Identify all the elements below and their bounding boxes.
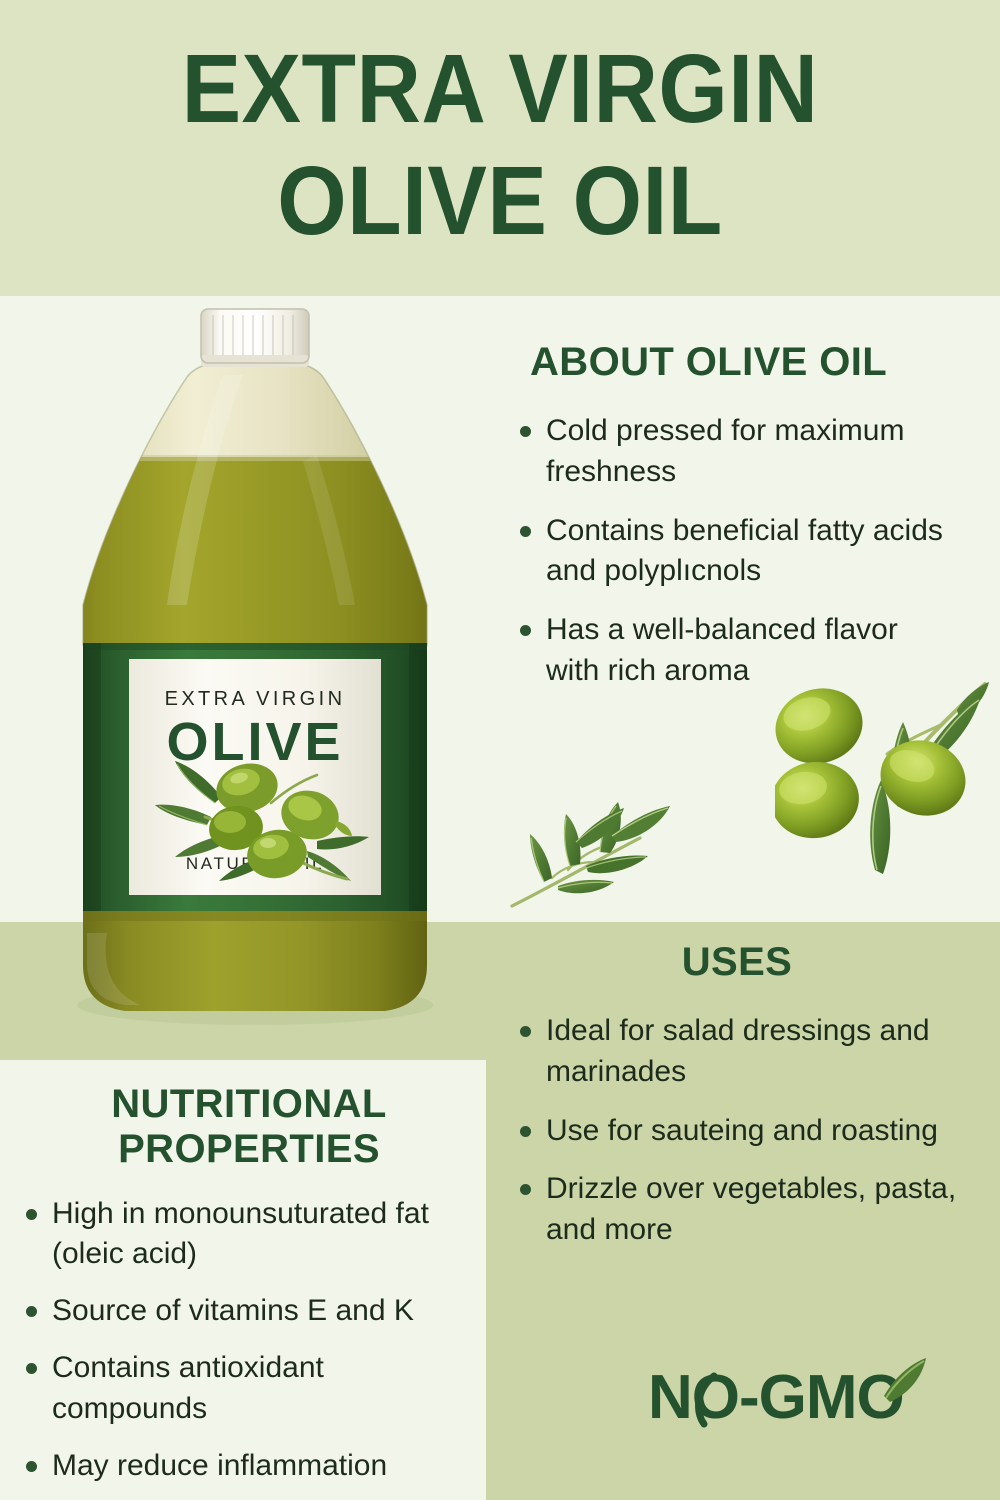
- bullet-icon: [520, 526, 531, 537]
- about-bullet-list: Cold pressed for maximum freshness Conta…: [512, 411, 952, 692]
- bullet-icon: [520, 1184, 531, 1195]
- page-title-line-1: EXTRA VIRGIN: [40, 40, 960, 137]
- nutrition-bullet-text: Contains antioxidant compounds: [52, 1351, 324, 1425]
- bullet-icon: [520, 1126, 531, 1137]
- list-item: Contains beneficial fatty acids and poly…: [512, 511, 952, 593]
- nutrition-bullet-list: High in monounsuturated fat (oleic acid)…: [18, 1194, 480, 1487]
- bottle-label-top-text: EXTRA VIRGIN: [165, 688, 346, 710]
- nutrition-heading: NUTRITIONAL PROPERTIES: [18, 1082, 480, 1172]
- about-heading: ABOUT OLIVE OIL: [530, 340, 952, 385]
- no-gmo-badge: NO-GMO: [648, 1352, 928, 1442]
- olive-leaf-sprig-icon: [508, 740, 728, 915]
- bullet-icon: [520, 426, 531, 437]
- about-section: ABOUT OLIVE OIL Cold pressed for maximum…: [512, 340, 952, 710]
- nutrition-bullet-text: May reduce inflammation: [52, 1449, 387, 1482]
- no-gmo-badge-svg: NO-GMO: [648, 1352, 928, 1442]
- uses-section: USES Ideal for salad dressings and marin…: [512, 940, 962, 1269]
- uses-bullet-text: Use for sauteing and roasting: [546, 1114, 938, 1147]
- bullet-icon: [520, 1026, 531, 1037]
- list-item: Source of vitamins E and K: [18, 1291, 480, 1332]
- about-bullet-text: Cold pressed for maximum freshness: [546, 414, 904, 488]
- no-gmo-badge-text: NO-GMO: [648, 1363, 904, 1432]
- olive-oil-bottle-image: EXTRA VIRGIN OLIVE NATURAL OIL: [55, 305, 455, 1045]
- list-item: Contains antioxidant compounds: [18, 1348, 480, 1430]
- bullet-icon: [26, 1306, 37, 1317]
- about-bullet-text: Contains beneficial fatty acids and poly…: [546, 514, 943, 588]
- about-bullet-text: Has a well-balanced flavor with rich aro…: [546, 613, 898, 687]
- nutrition-bullet-text: Source of vitamins E and K: [52, 1294, 414, 1327]
- nutrition-heading-line-2: PROPERTIES: [118, 1127, 380, 1171]
- list-item: May reduce inflammation: [18, 1446, 480, 1487]
- bullet-icon: [26, 1209, 37, 1220]
- nutrition-bullet-text: High in monounsuturated fat (oleic acid): [52, 1197, 429, 1271]
- olive-branch-with-fruit-icon: [775, 680, 990, 895]
- uses-bullet-text: Ideal for salad dressings and marinades: [546, 1014, 930, 1088]
- list-item: Use for sauteing and roasting: [512, 1111, 962, 1152]
- list-item: Ideal for salad dressings and marinades: [512, 1011, 962, 1093]
- list-item: Drizzle over vegetables, pasta, and more: [512, 1169, 962, 1251]
- page-title-line-2: OLIVE OIL: [40, 152, 960, 249]
- list-item: High in monounsuturated fat (oleic acid): [18, 1194, 480, 1276]
- nutrition-section: NUTRITIONAL PROPERTIES High in monounsut…: [18, 1082, 480, 1500]
- bullet-icon: [26, 1461, 37, 1472]
- infographic-poster: EXTRA VIRGIN OLIVE OIL: [0, 0, 1000, 1500]
- nutrition-heading-line-1: NUTRITIONAL: [111, 1082, 386, 1126]
- bottle-label-brand-text: OLIVE: [166, 712, 343, 772]
- bottle-svg: EXTRA VIRGIN OLIVE NATURAL OIL: [55, 305, 455, 1045]
- bullet-icon: [26, 1363, 37, 1374]
- list-item: Cold pressed for maximum freshness: [512, 411, 952, 493]
- uses-heading: USES: [512, 940, 962, 985]
- uses-bullet-list: Ideal for salad dressings and marinades …: [512, 1011, 962, 1251]
- bullet-icon: [520, 625, 531, 636]
- uses-bullet-text: Drizzle over vegetables, pasta, and more: [546, 1172, 956, 1246]
